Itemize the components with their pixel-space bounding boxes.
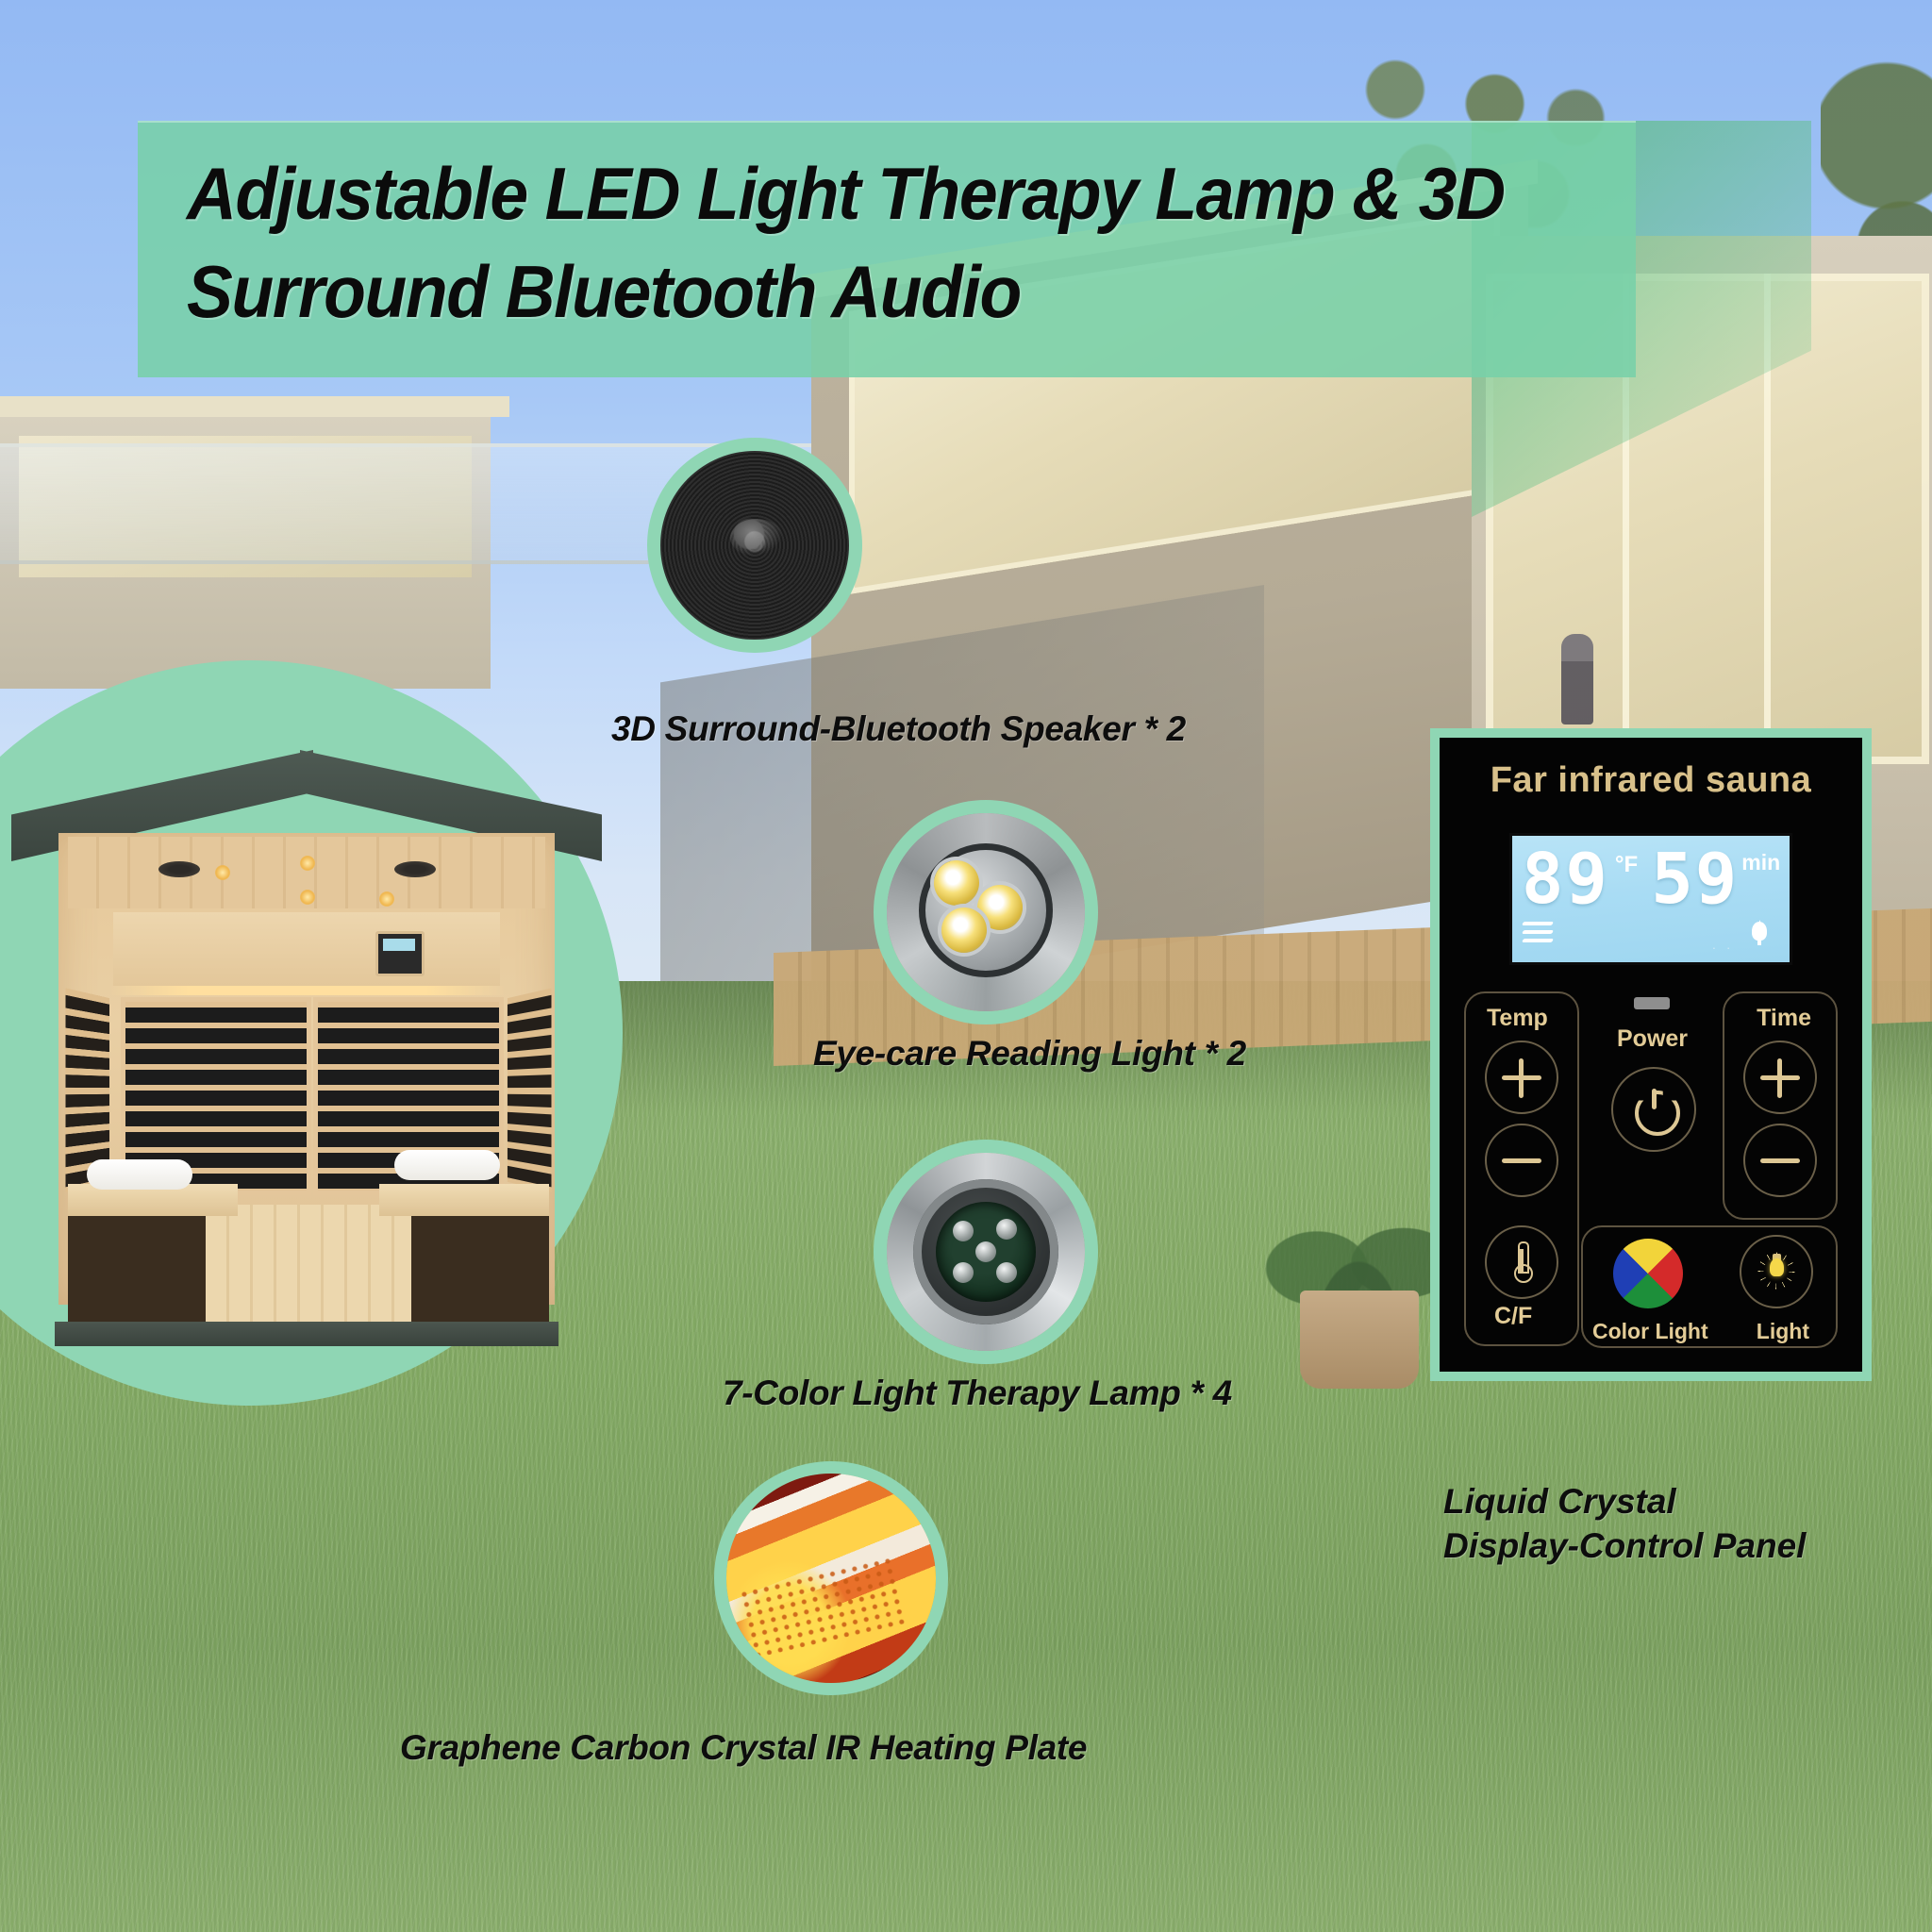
lcd-light-icon [1740,916,1779,956]
color-light-button[interactable] [1613,1239,1683,1308]
background-parapet [0,396,509,417]
ceiling-light-icon [300,890,315,905]
sauna-base [55,1322,558,1346]
time-increase-button[interactable] [1743,1041,1817,1114]
sauna-bench-right [379,1184,549,1216]
temp-decrease-button[interactable] [1485,1124,1558,1197]
plus-icon [1777,1058,1782,1098]
control-panel[interactable]: Far infrared sauna 89 °F 59 min . . Temp [1440,738,1862,1372]
downlight-reflector [919,843,1053,977]
light-label: Light [1757,1319,1809,1344]
color-lamp-reflector [936,1202,1036,1302]
title-banner: Adjustable LED Light Therapy Lamp & 3D S… [138,121,1636,377]
panel-caption: Liquid Crystal Display-Control Panel [1443,1479,1932,1569]
power-label: Power [1617,1025,1688,1053]
color-led-lamp-icon [887,1153,1085,1351]
feature-caption-speaker: 3D Surround-Bluetooth Speaker * 2 [611,709,1186,749]
plant-pot [1300,1291,1419,1389]
title-line-1: Adjustable LED Light Therapy Lamp & 3D [187,152,1505,235]
panel-caption-line-2: Display-Control Panel [1443,1524,1932,1568]
light-bulb-icon [1755,1250,1798,1293]
feature-caption-reading-light: Eye-care Reading Light * 2 [813,1034,1246,1074]
plus-icon [1519,1058,1524,1098]
sauna-cabin-photo [19,750,594,1354]
sauna-wall-control-panel [375,931,425,976]
background-person [1561,634,1593,724]
power-button[interactable] [1611,1067,1696,1152]
color-light-label: Color Light [1592,1319,1708,1344]
lcd-temperature-value: 89 [1522,846,1609,912]
title-line-2: Surround Bluetooth Audio [187,250,1021,333]
feature-caption-heating-plate: Graphene Carbon Crystal IR Heating Plate [400,1728,1087,1768]
temp-increase-button[interactable] [1485,1041,1558,1114]
lcd-indicator-dots: . . [1712,938,1734,952]
time-decrease-button[interactable] [1743,1124,1817,1197]
ir-heating-layers-icon [726,1474,936,1683]
rolled-towel [394,1150,500,1180]
cf-label: C/F [1494,1303,1532,1330]
color-led-emitter [953,1221,974,1241]
led-downlight-icon [887,813,1085,1011]
panel-caption-line-1: Liquid Crystal [1443,1479,1932,1524]
celsius-fahrenheit-button[interactable] [1485,1225,1558,1299]
color-led-emitter [996,1219,1017,1240]
sauna-under-bench-left [68,1216,208,1327]
sauna-led-strip [109,986,506,995]
led-emitter [941,908,987,953]
ceiling-speaker-icon [158,861,200,877]
color-led-emitter [975,1241,996,1262]
light-button[interactable] [1740,1235,1813,1308]
feature-caption-color-lamp: 7-Color Light Therapy Lamp * 4 [723,1374,1232,1413]
color-led-emitter [996,1262,1017,1283]
color-led-emitter [953,1262,974,1283]
panel-title: Far infrared sauna [1491,760,1812,801]
color-lamp-housing [913,1179,1058,1324]
thermometer-icon [1513,1241,1530,1283]
lcd-readout-row: 89 °F 59 min [1509,846,1792,920]
sauna-under-bench-right [409,1216,549,1327]
ceiling-light-icon [379,891,394,907]
sauna-floor [206,1205,411,1337]
ceiling-light-icon [215,865,230,880]
lcd-display: 89 °F 59 min . . [1509,833,1792,965]
page-title: Adjustable LED Light Therapy Lamp & 3D S… [187,145,1517,341]
lcd-time-value: 59 [1651,846,1739,912]
ceiling-light-icon [300,856,315,871]
sauna-upper-wall [113,912,500,986]
heat-wave-icon [1523,922,1555,950]
sauna-side-heater-right [508,988,552,1191]
minus-icon [1760,1158,1800,1163]
rolled-towel [87,1159,192,1190]
control-panel-frame: Far infrared sauna 89 °F 59 min . . Temp [1430,728,1872,1381]
speaker-grille-icon [660,451,849,640]
power-indicator-led [1634,997,1670,1009]
temp-label: Temp [1487,1005,1548,1032]
time-label: Time [1757,1005,1811,1032]
carbon-crystal-particles [738,1555,909,1658]
lcd-time-unit: min [1741,850,1780,875]
led-emitter [934,860,979,906]
infographic-canvas: Adjustable LED Light Therapy Lamp & 3D S… [0,0,1932,1932]
minus-icon [1502,1158,1541,1163]
power-icon [1635,1091,1673,1128]
button-area: Temp C/F Power [1458,991,1843,1348]
lcd-temperature-unit: °F [1615,852,1638,878]
ceiling-speaker-icon [394,861,436,877]
